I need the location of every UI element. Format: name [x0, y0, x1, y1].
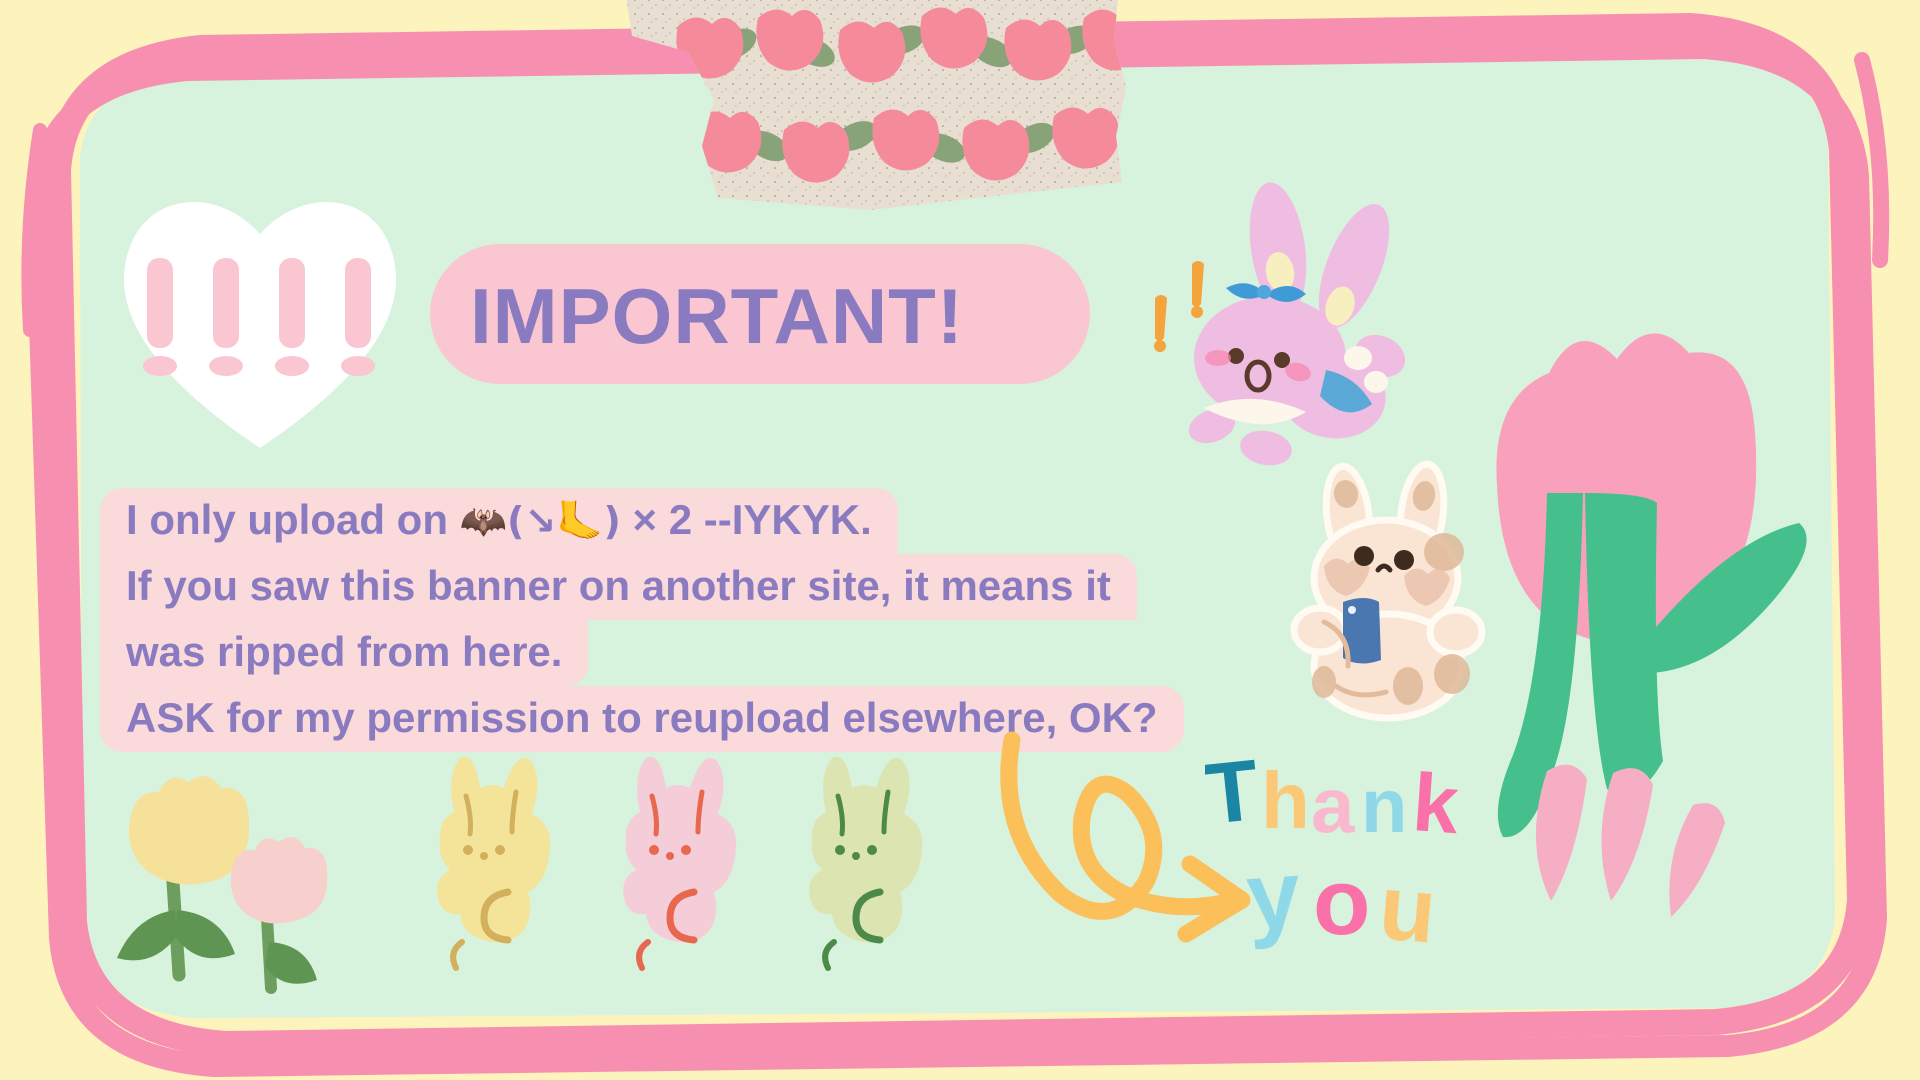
thankyou-letter-a: a [1311, 761, 1355, 849]
thankyou-letter-y: y [1243, 840, 1304, 950]
thankyou-letter-u: u [1375, 856, 1440, 962]
gummy-bunnies-group [400, 752, 990, 1002]
thankyou-letter-n: n [1361, 764, 1407, 849]
notice-line-1-prefix: I only upload on [126, 496, 460, 543]
tulip-pair-icon [95, 760, 355, 1010]
excitement-marks-icon [1154, 261, 1204, 352]
notice-line-3: was ripped from here. [100, 620, 588, 686]
notice-line-1: I only upload on 🦇(↘🦶) × 2 --IYKYK. [100, 488, 898, 554]
gummy-bunny-icon [809, 757, 922, 968]
washi-tape-tulip-pattern [618, 0, 1138, 218]
page-title: IMPORTANT! [470, 262, 1090, 370]
banner-canvas: IMPORTANT! I only upload on 🦇(↘🦶) × 2 --… [0, 0, 1920, 1080]
upload-platform-emoji: 🦇(↘🦶) [460, 499, 621, 543]
gummy-bunny-icon [437, 757, 550, 968]
notice-line-1-suffix: × 2 --IYKYK. [621, 496, 872, 543]
thankyou-letter-h: h [1261, 756, 1310, 845]
notice-text-block: I only upload on 🦇(↘🦶) × 2 --IYKYK. If y… [100, 488, 1190, 752]
large-tulip-icon [1435, 235, 1835, 945]
notice-line-2: If you saw this banner on another site, … [100, 554, 1137, 620]
gummy-bunny-icon [623, 757, 736, 968]
thankyou-letter-T: T [1205, 752, 1263, 843]
thankyou-letter-o: o [1313, 849, 1370, 954]
heart-with-exclamations-icon [95, 148, 425, 478]
flying-bunny-icon [1140, 180, 1440, 480]
